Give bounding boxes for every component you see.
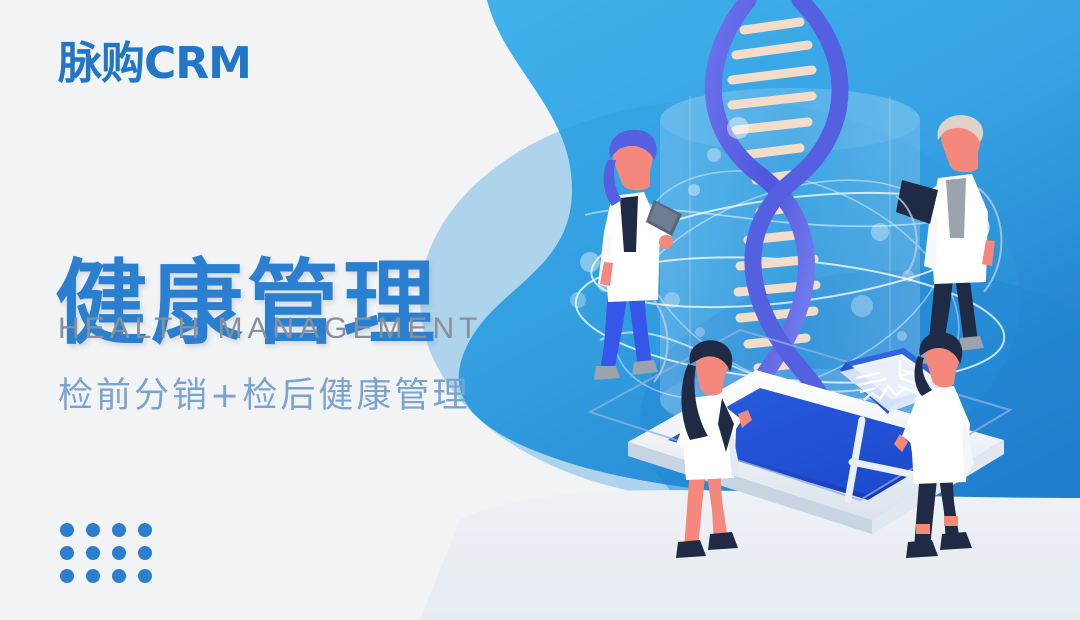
dot [138,546,152,560]
dot [138,569,152,583]
dot [138,523,152,537]
dot [112,546,126,560]
page-subtitle: HEALTH MANAGEMENT [58,314,482,344]
dot [60,546,74,560]
page-tagline: 检前分销+检后健康管理 [58,375,470,417]
dot [112,569,126,583]
dot [86,569,100,583]
dot [60,569,74,583]
text-column: 脉购CRM 健康管理 HEALTH MANAGEMENT 检前分销+检后健康管理 [0,0,520,620]
dot [112,523,126,537]
health-management-banner: 脉购CRM 健康管理 HEALTH MANAGEMENT 检前分销+检后健康管理 [0,0,1080,620]
dot [60,523,74,537]
dot [86,546,100,560]
dot-grid-decoration [60,523,164,592]
dot [86,523,100,537]
brand-logo[interactable]: 脉购CRM [58,42,251,86]
